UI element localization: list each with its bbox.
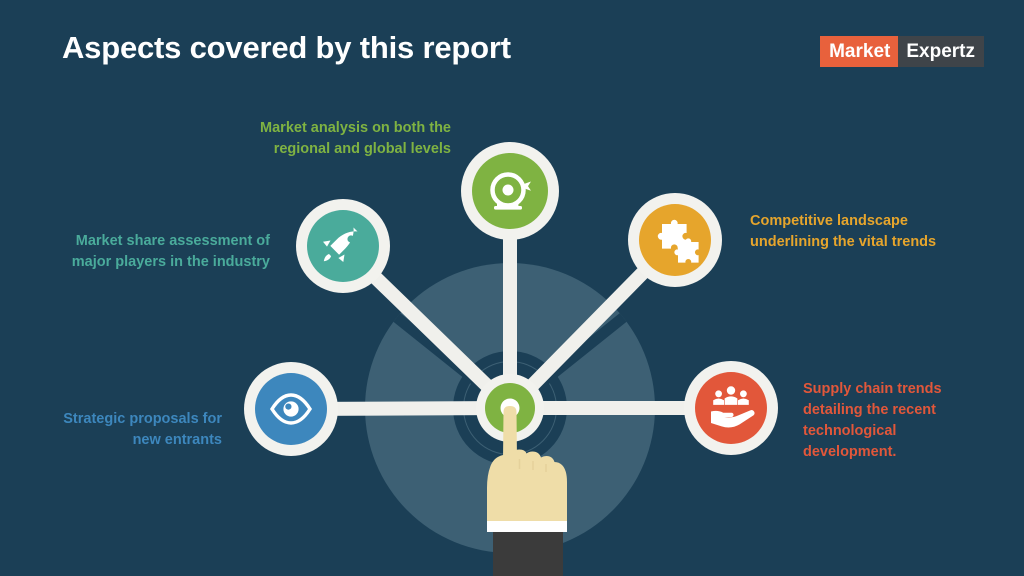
label-supply-chain: Supply chain trends detailing the recent… <box>803 379 993 463</box>
label-strategic-proposals: Strategic proposals for new entrants <box>22 409 222 451</box>
label-competitive-landscape: Competitive landscape underlining the vi… <box>750 211 990 253</box>
infographic-slide: Aspects covered by this report MarketExp… <box>0 0 1024 576</box>
node-market-share[interactable] <box>296 199 390 293</box>
brand-logo-expertz: Expertz <box>898 36 984 67</box>
node-supply-chain[interactable] <box>684 361 778 455</box>
hub-and-spoke-diagram <box>0 0 1024 576</box>
node-market-analysis[interactable] <box>461 142 559 240</box>
label-market-share: Market share assessment of major players… <box>36 231 270 273</box>
brand-logo[interactable]: MarketExpertz <box>820 36 984 67</box>
brand-logo-market: Market <box>820 36 898 67</box>
node-strategic-proposals[interactable] <box>244 362 338 456</box>
page-title: Aspects covered by this report <box>62 30 511 66</box>
node-competitive-landscape[interactable] <box>628 193 722 287</box>
label-market-analysis: Market analysis on both the regional and… <box>225 118 451 160</box>
